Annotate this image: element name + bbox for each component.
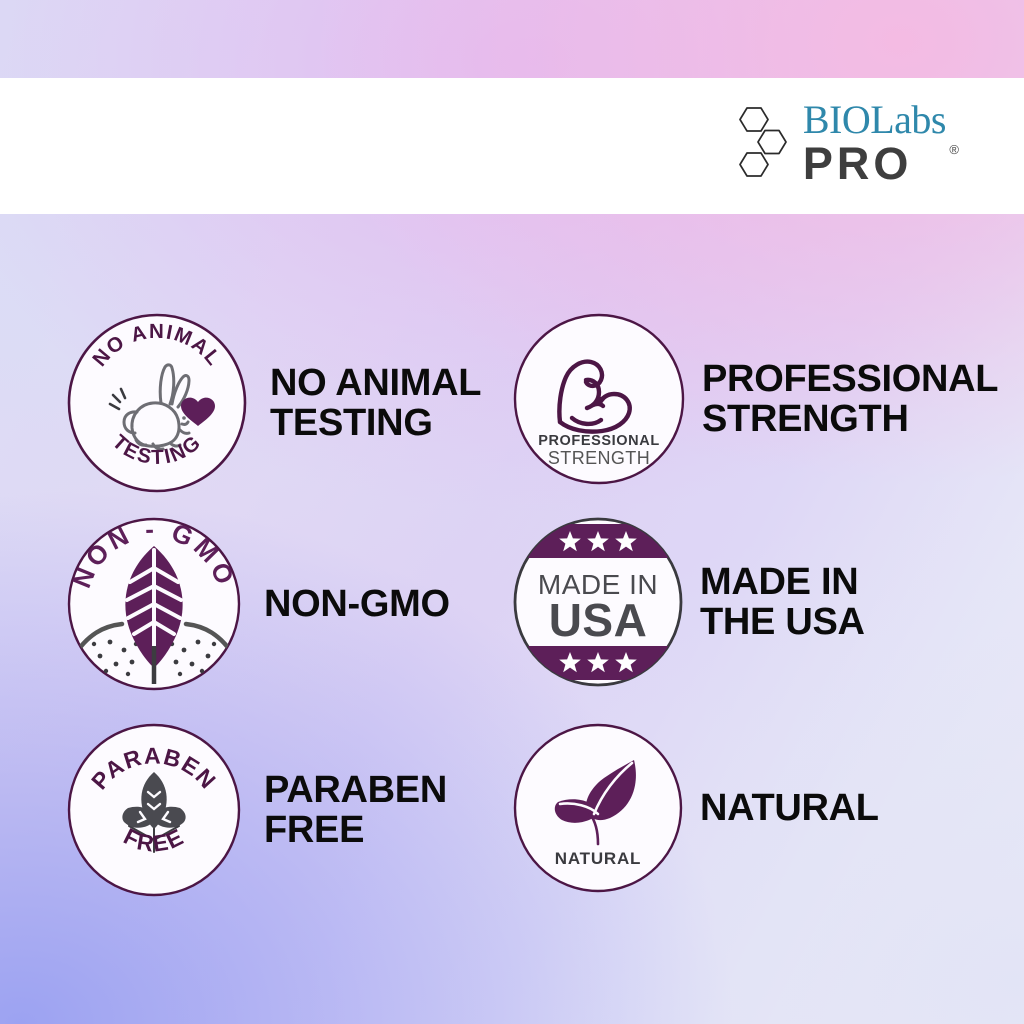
badge-item-made-in-usa[interactable]: MADE IN USA MADE IN THE USA: [512, 516, 865, 688]
brand-top-line: BIOLabs: [803, 100, 946, 140]
badge-item-paraben-free[interactable]: PARABEN FREE PARABEN FREE: [66, 722, 447, 898]
badge-item-professional-strength[interactable]: PROFESSIONAL STRENGTH PROFESSIONAL STREN…: [512, 312, 998, 486]
header-band: BIOLabs PRO®: [0, 78, 1024, 214]
brand-bio-text: BIO: [803, 97, 870, 142]
badge-item-non-gmo[interactable]: NON - GMO NON-GMO: [66, 516, 450, 692]
seal-text-professional: PROFESSIONAL: [538, 433, 660, 449]
badge-item-no-animal-testing[interactable]: NO ANIMAL TESTING NO ANIMAL TESTING: [66, 312, 481, 494]
badge-label-no-animal-testing: NO ANIMAL TESTING: [270, 363, 481, 444]
badge-label-non-gmo: NON-GMO: [264, 584, 450, 624]
seal-no-animal-testing: NO ANIMAL TESTING: [66, 312, 248, 494]
seal-non-gmo: NON - GMO: [66, 516, 242, 692]
badge-label-natural: NATURAL: [700, 788, 879, 828]
badge-grid: NO ANIMAL TESTING NO ANIMAL TESTING: [0, 214, 1024, 1024]
badge-item-natural[interactable]: NATURAL NATURAL: [512, 722, 879, 894]
badge-label-paraben-free: PARABEN FREE: [264, 770, 447, 851]
seal-natural: NATURAL: [512, 722, 684, 894]
brand-pro-text: PRO®: [803, 141, 946, 186]
registered-trademark-icon: ®: [949, 143, 959, 156]
seal-professional-strength: PROFESSIONAL STRENGTH: [512, 312, 686, 486]
seal-made-in-usa: MADE IN USA: [512, 516, 684, 688]
page-canvas: BIOLabs PRO®: [0, 0, 1024, 1024]
brand-pro-label: PRO: [803, 138, 913, 189]
hexagon-chain-icon: [734, 106, 794, 180]
badge-label-professional-strength: PROFESSIONAL STRENGTH: [702, 359, 998, 440]
brand-labs-text: Labs: [870, 97, 946, 142]
seal-paraben-free: PARABEN FREE: [66, 722, 242, 898]
seal-text-strength: STRENGTH: [548, 448, 650, 468]
brand-wordmark: BIOLabs PRO®: [803, 100, 946, 186]
seal-text-natural: NATURAL: [555, 849, 642, 868]
brand-logo[interactable]: BIOLabs PRO®: [734, 100, 946, 186]
seal-text-usa: USA: [549, 594, 648, 646]
badge-label-made-in-usa: MADE IN THE USA: [700, 562, 865, 643]
